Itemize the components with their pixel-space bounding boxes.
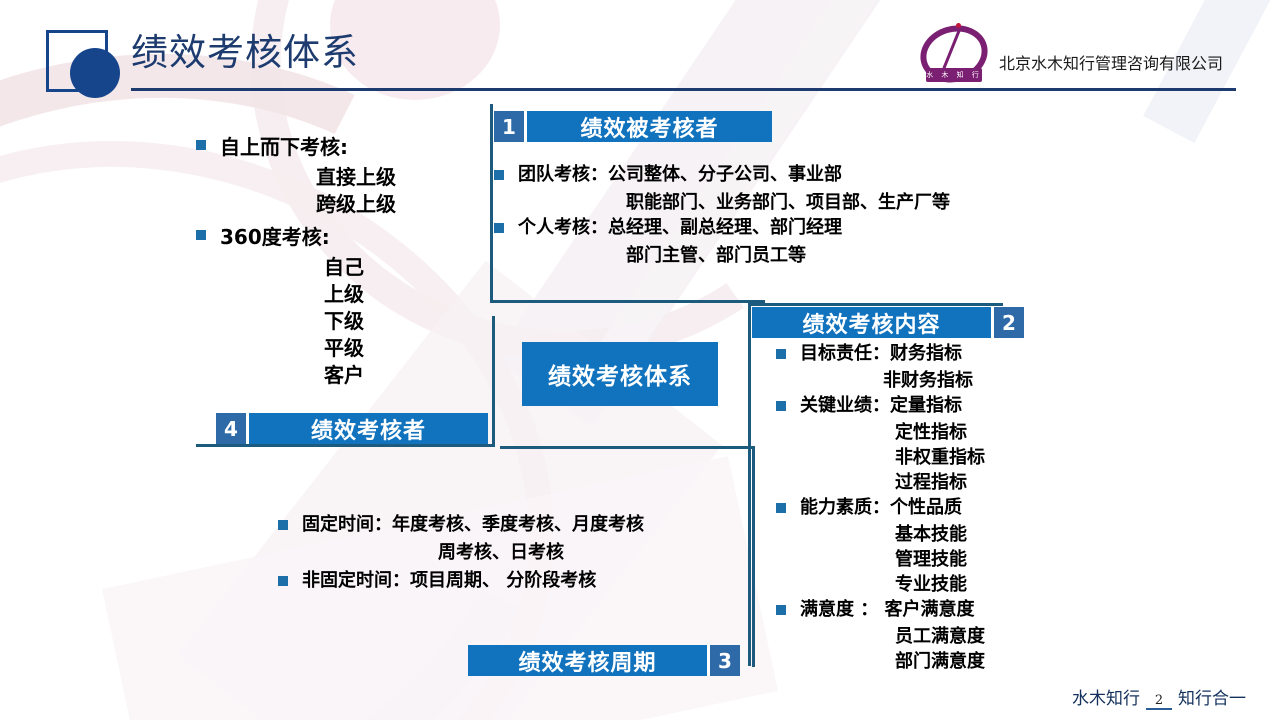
- assessed-bullets: 团队考核：公司整体、分子公司、事业部 职能部门、业务部门、项目部、生产厂等 个人…: [494, 162, 1014, 268]
- filled-circle-icon: [70, 48, 120, 98]
- assessor-subitem: 上级: [324, 281, 496, 308]
- content-subitem: 专业技能: [895, 572, 1056, 597]
- list-item: 关键业绩：定量指标: [776, 393, 1056, 418]
- title-underline: [131, 88, 1236, 91]
- cycle-subitem: 周考核、日考核: [438, 540, 758, 565]
- bullet-square-icon: [494, 170, 504, 180]
- assessor-subitem: 平级: [324, 335, 496, 362]
- section-number: 3: [710, 645, 740, 676]
- list-item: 个人考核：总经理、副总经理、部门经理: [494, 215, 1014, 241]
- assessor-subitem: 下级: [324, 308, 496, 335]
- content-subitem: 员工满意度: [895, 624, 1056, 649]
- slide-canvas: 绩效考核体系 水 木 知 行 北京水木知行管理咨询有限公司 自上而下考核: 直接…: [0, 0, 1280, 720]
- section-bar-assessor[interactable]: 4 绩效考核者: [216, 413, 488, 444]
- assessor-bullets: 自上而下考核: 直接上级 跨级上级 360度考核: 自己 上级 下级 平级 客户: [196, 132, 496, 389]
- list-item: 满意度 ： 客户满意度: [776, 597, 1056, 622]
- section-bar-assessed[interactable]: 1 绩效被考核者: [494, 111, 772, 142]
- bullet-square-icon: [196, 140, 206, 150]
- content-subitem: 基本技能: [895, 522, 1056, 547]
- cycle-item-label: 固定时间：年度考核、季度考核、月度考核: [302, 512, 644, 538]
- assessor-subitem: 客户: [324, 362, 496, 389]
- footer-left-text: 水木知行: [1072, 684, 1140, 709]
- assessor-subitem: 自己: [324, 254, 496, 281]
- bullet-square-icon: [494, 223, 504, 233]
- list-item: 自上而下考核:: [196, 132, 496, 162]
- bullet-square-icon: [278, 520, 288, 530]
- center-node: 绩效考核体系: [522, 342, 718, 406]
- content-item-label: 目标责任：财务指标: [800, 341, 962, 366]
- section-title: 绩效被考核者: [527, 111, 772, 143]
- assessed-item-label: 个人考核：总经理、副总经理、部门经理: [518, 215, 842, 241]
- content-subitem: 定性指标: [895, 420, 1056, 445]
- assessed-subitem: 部门主管、部门员工等: [626, 243, 1014, 268]
- cycle-item-label: 非固定时间：项目周期、 分阶段考核: [302, 568, 596, 594]
- assessed-item-label: 团队考核：公司整体、分子公司、事业部: [518, 162, 842, 188]
- list-item: 非固定时间：项目周期、 分阶段考核: [278, 568, 758, 594]
- content-item-label: 能力素质：个性品质: [800, 495, 962, 520]
- list-item: 360度考核:: [196, 222, 496, 252]
- slide-header: 绩效考核体系 水 木 知 行 北京水木知行管理咨询有限公司: [0, 0, 1280, 96]
- content-item-label: 关键业绩：定量指标: [800, 393, 962, 418]
- cycle-bullets: 固定时间：年度考核、季度考核、月度考核 周考核、日考核 非固定时间：项目周期、 …: [278, 512, 758, 596]
- section-bar-cycle[interactable]: 绩效考核周期 3: [468, 645, 740, 676]
- assessor-item-label: 360度考核:: [220, 222, 330, 252]
- content-bullets: 目标责任：财务指标 非财务指标 关键业绩：定量指标 定性指标 非权重指标 过程指…: [776, 341, 1056, 674]
- bullet-square-icon: [776, 349, 786, 359]
- footer-right-text: 知行合一: [1178, 684, 1246, 709]
- content-subitem: 管理技能: [895, 547, 1056, 572]
- section-title: 绩效考核者: [249, 413, 488, 445]
- section-number: 1: [494, 111, 524, 142]
- assessor-subitem: 跨级上级: [316, 191, 496, 218]
- page-number-dash: [1146, 708, 1172, 710]
- bullet-square-icon: [776, 401, 786, 411]
- section-title: 绩效考核周期: [468, 645, 707, 677]
- content-subitem: 非财务指标: [883, 368, 1056, 393]
- page-number-group: 2: [1146, 695, 1172, 710]
- section-title: 绩效考核内容: [752, 307, 991, 339]
- list-item: 能力素质：个性品质: [776, 495, 1056, 520]
- slide-footer: 水木知行 2 知行合一: [1072, 684, 1246, 710]
- section-number: 4: [216, 413, 246, 444]
- logo-plaque-text: 水 木 知 行: [926, 68, 982, 82]
- assessed-subitem: 职能部门、业务部门、项目部、生产厂等: [626, 190, 1014, 215]
- content-subitem: 非权重指标: [895, 445, 1056, 470]
- section-bar-content[interactable]: 绩效考核内容 2: [752, 307, 1024, 338]
- bullet-square-icon: [776, 605, 786, 615]
- bullet-square-icon: [278, 576, 288, 586]
- content-subitem: 过程指标: [895, 470, 1056, 495]
- content-subitem: 部门满意度: [895, 649, 1056, 674]
- bullet-square-icon: [776, 503, 786, 513]
- assessor-subitem: 直接上级: [316, 164, 496, 191]
- bullet-square-icon: [196, 230, 206, 240]
- company-name: 北京水木知行管理咨询有限公司: [999, 50, 1223, 74]
- page-number: 2: [1155, 695, 1163, 707]
- section-number: 2: [994, 307, 1024, 338]
- list-item: 固定时间：年度考核、季度考核、月度考核: [278, 512, 758, 538]
- assessor-item-label: 自上而下考核:: [220, 132, 348, 162]
- list-item: 目标责任：财务指标: [776, 341, 1056, 366]
- logo-dot-shape: [956, 23, 961, 28]
- list-item: 团队考核：公司整体、分子公司、事业部: [494, 162, 1014, 188]
- page-title: 绩效考核体系: [131, 30, 359, 76]
- company-logo-icon: 水 木 知 行: [916, 24, 986, 86]
- content-item-label: 满意度 ： 客户满意度: [800, 597, 975, 622]
